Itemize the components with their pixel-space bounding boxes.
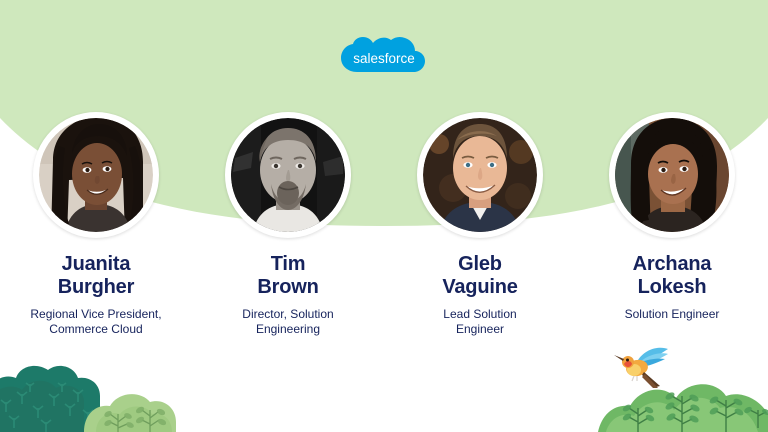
- speaker-name-line1: Juanita: [62, 253, 131, 275]
- speaker-title-line2: Engineering: [256, 322, 320, 336]
- avatar-ring-1: [33, 112, 159, 238]
- bush-foliage-right: [598, 370, 768, 432]
- speaker-name-1: Juanita Burgher: [58, 253, 134, 299]
- salesforce-logo: salesforce: [335, 36, 433, 86]
- speaker-card-2: Tim Brown Director, Solution Engineering: [192, 112, 384, 362]
- speaker-title-4: Solution Engineer: [625, 307, 720, 322]
- bush-foliage-left: [0, 352, 215, 432]
- speaker-card-3: Gleb Vaguine Lead Solution Engineer: [384, 112, 576, 362]
- logo-wordmark: salesforce: [353, 51, 415, 66]
- speaker-name-line1: Tim: [271, 253, 306, 275]
- slide-canvas: salesforce: [0, 0, 768, 432]
- avatar-ring-2: [225, 112, 351, 238]
- avatar-juanita-burgher: [39, 118, 153, 232]
- speaker-name-line1: Gleb: [458, 253, 502, 275]
- speaker-name-line2: Burgher: [58, 276, 134, 298]
- avatar-ring-4: [609, 112, 735, 238]
- speaker-title-1: Regional Vice President, Commerce Cloud: [30, 307, 161, 337]
- speaker-title-line1: Regional Vice President,: [30, 307, 161, 321]
- speaker-card-4: Archana Lokesh Solution Engineer: [576, 112, 768, 362]
- speaker-name-4: Archana Lokesh: [633, 253, 712, 299]
- speaker-name-line1: Archana: [633, 253, 712, 275]
- avatar-archana-lokesh: [615, 118, 729, 232]
- speaker-name-line2: Lokesh: [638, 276, 707, 298]
- speaker-name-2: Tim Brown: [257, 253, 318, 299]
- avatar-tim-brown: [231, 118, 345, 232]
- speaker-title-3: Lead Solution Engineer: [443, 307, 516, 337]
- avatar-ring-3: [417, 112, 543, 238]
- speaker-name-line2: Brown: [257, 276, 318, 298]
- speakers-row: Juanita Burgher Regional Vice President,…: [0, 112, 768, 362]
- speaker-title-line1: Director, Solution: [242, 307, 333, 321]
- speaker-card-1: Juanita Burgher Regional Vice President,…: [0, 112, 192, 362]
- speaker-title-2: Director, Solution Engineering: [242, 307, 333, 337]
- speaker-title-line2: Commerce Cloud: [49, 322, 142, 336]
- speaker-name-line2: Vaguine: [442, 276, 517, 298]
- speaker-name-3: Gleb Vaguine: [442, 253, 517, 299]
- speaker-title-line1: Solution Engineer: [625, 307, 720, 321]
- speaker-title-line2: Engineer: [456, 322, 504, 336]
- avatar-gleb-vaguine: [423, 118, 537, 232]
- speaker-title-line1: Lead Solution: [443, 307, 516, 321]
